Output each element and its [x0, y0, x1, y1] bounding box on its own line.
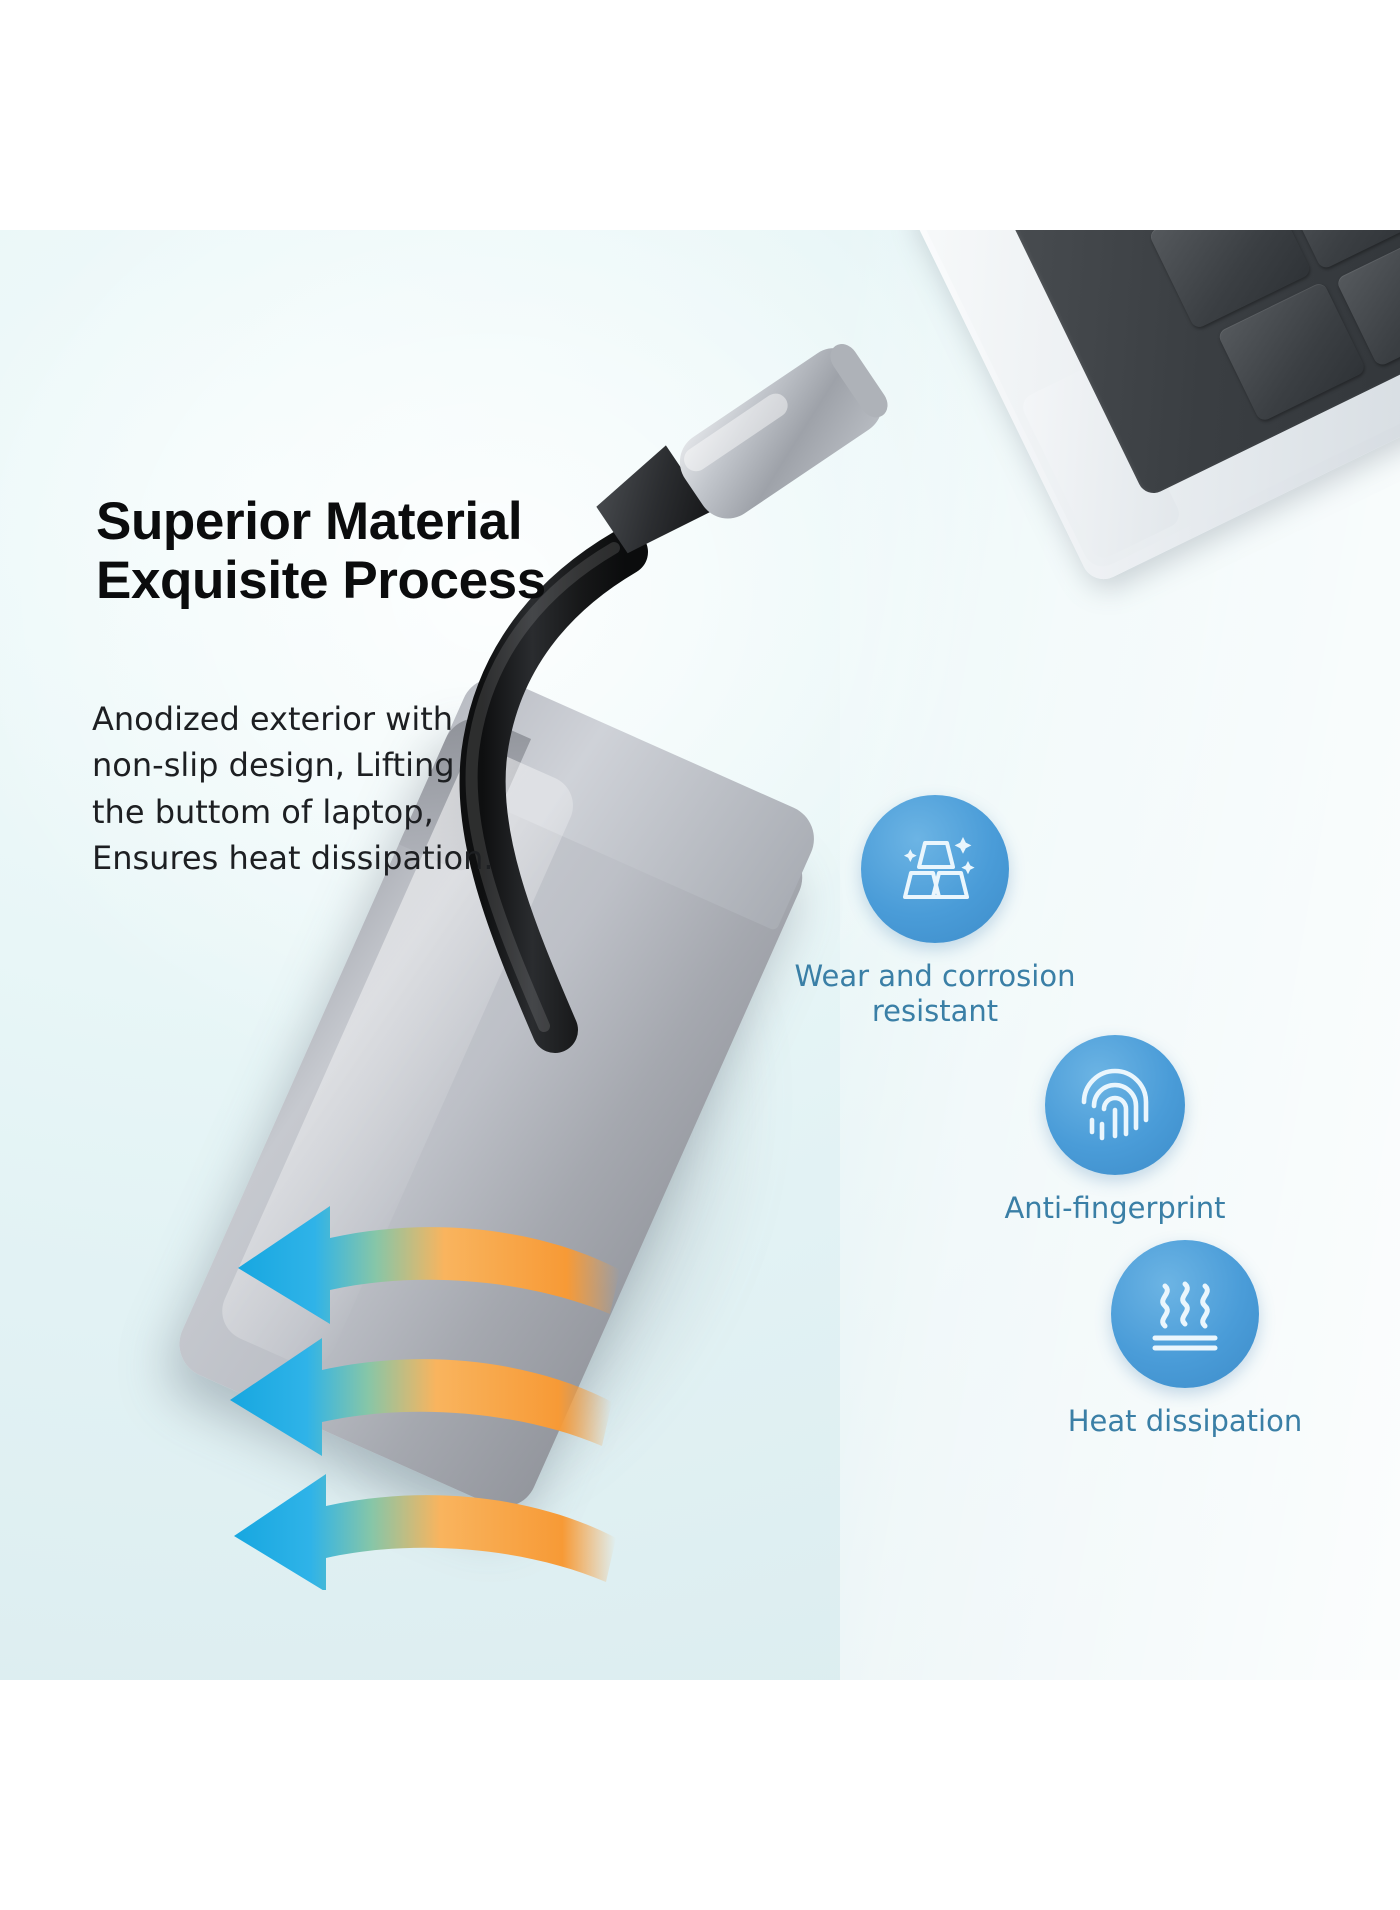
body-line-1: Anodized exterior with: [92, 696, 512, 742]
top-margin: [0, 0, 1400, 230]
gold-bars-sparkle-icon: [889, 823, 981, 915]
body-line-3: the buttom of laptop,: [92, 789, 512, 835]
airflow-arrow-3: [234, 1474, 616, 1590]
heat-dissipation-label: Heat dissipation: [975, 1404, 1395, 1439]
feature-anti-fingerprint: Anti-fingerprint: [880, 1035, 1350, 1226]
body-line-2: non-slip design, Lifting: [92, 742, 512, 788]
heat-waves-icon: [1139, 1268, 1231, 1360]
feature-wear-corrosion: Wear and corrosion resistant: [690, 795, 1180, 1030]
product-image-page: tab: [0, 0, 1400, 1910]
headline-line-1: Superior Material: [96, 492, 736, 551]
airflow-arrow-2: [230, 1338, 612, 1456]
fingerprint-icon: [1072, 1062, 1158, 1148]
wear-corrosion-badge: [861, 795, 1009, 943]
body-copy: Anodized exterior with non-slip design, …: [92, 696, 512, 882]
airflow-arrow-1: [238, 1206, 620, 1324]
airflow-arrows: [180, 970, 630, 1590]
headline: Superior Material Exquisite Process: [96, 492, 736, 611]
heat-dissipation-badge: [1111, 1240, 1259, 1388]
anti-fingerprint-badge: [1045, 1035, 1185, 1175]
bottom-margin: [0, 1680, 1400, 1910]
product-photo: tab: [0, 230, 1400, 1680]
wear-corrosion-label: Wear and corrosion resistant: [690, 959, 1180, 1030]
body-line-4: Ensures heat dissipation.: [92, 835, 512, 881]
anti-fingerprint-label: Anti-fingerprint: [880, 1191, 1350, 1226]
headline-line-2: Exquisite Process: [96, 551, 736, 610]
feature-heat-dissipation: Heat dissipation: [975, 1240, 1395, 1439]
